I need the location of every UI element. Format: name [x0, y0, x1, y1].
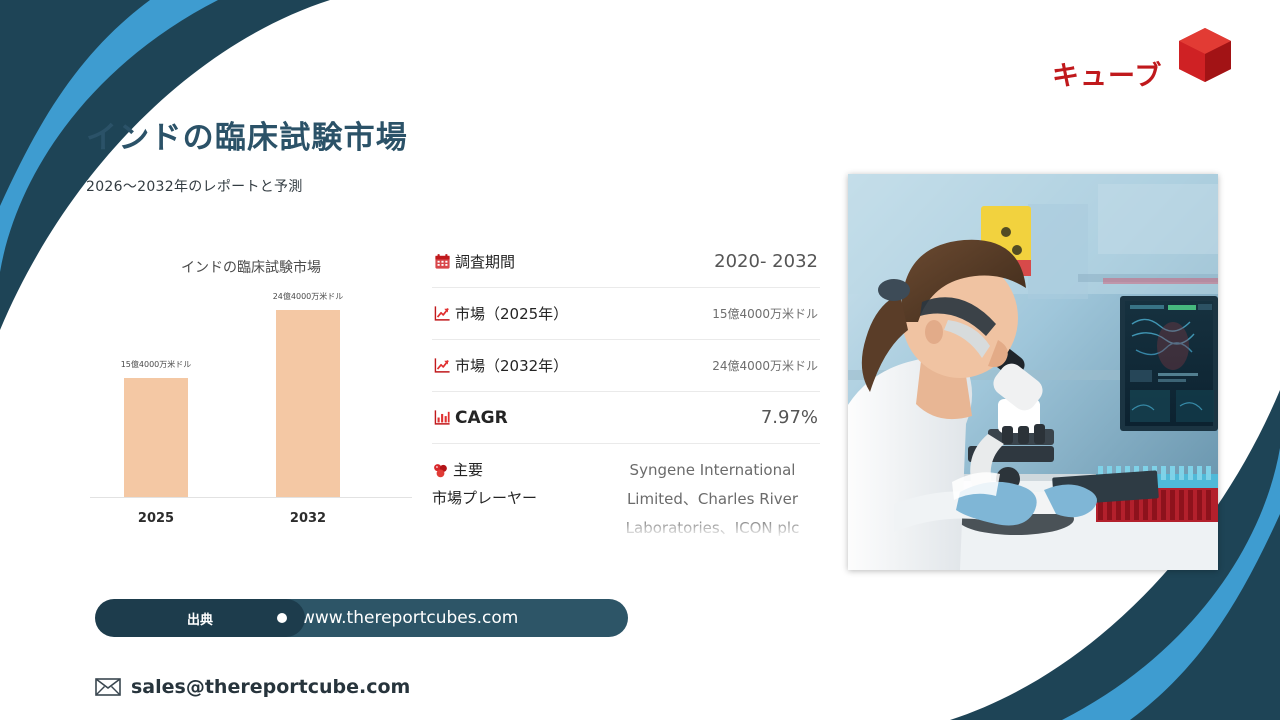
table-row-key-players: 主要 市場プレーヤー Syngene International Limited… [432, 444, 820, 543]
contact-email-text: sales@thereportcube.com [131, 676, 410, 698]
calendar-icon [434, 253, 451, 270]
brand-logo: キューブ [1052, 18, 1242, 102]
cubes-icon [432, 462, 449, 479]
bar-label-2032: 24億4000万米ドル [253, 291, 363, 302]
market-bar-chart: インドの臨床試験市場 15億4000万米ドル 24億4000万米ドル 2025 … [86, 245, 416, 540]
envelope-icon [95, 678, 121, 696]
bar-chart-icon [434, 409, 451, 426]
chart-plot-area: 15億4000万米ドル 24億4000万米ドル [86, 283, 416, 498]
source-label-text: 出典 [187, 609, 213, 628]
bar-label-2025: 15億4000万米ドル [101, 359, 211, 370]
logo-text: キューブ [1052, 54, 1162, 93]
table-row-market-2025: 市場（2025年） 15億4000万米ドル [432, 288, 820, 340]
row-label-cagr: CAGR [434, 408, 508, 428]
chart-title: インドの臨床試験市場 [86, 257, 416, 277]
row-label-market-2032: 市場（2032年） [434, 355, 568, 376]
red-cube-icon [1174, 24, 1236, 86]
key-player-line: Limited、Charles River [605, 485, 820, 514]
table-row-market-2032: 市場（2032年） 24億4000万米ドル [432, 340, 820, 392]
bar-2025 [124, 378, 188, 497]
page-title: インドの臨床試験市場 [86, 112, 408, 157]
key-player-line: Syngene International [605, 456, 820, 485]
bullet-dot-icon [277, 613, 287, 623]
row-label-text: 市場（2032年） [455, 355, 568, 376]
lab-scientist-photo [848, 174, 1218, 570]
market-info-table: 調査期間 2020- 2032 市場（2025年） 15億4000万米ドル 市場… [432, 236, 820, 543]
source-url-text: www.thereportcubes.com [301, 608, 518, 628]
row-label-market-2025: 市場（2025年） [434, 303, 568, 324]
row-value-cagr: 7.97% [761, 407, 818, 428]
row-label-text: 市場（2025年） [455, 303, 568, 324]
row-value-market-2025: 15億4000万米ドル [712, 305, 818, 322]
key-players-label-line1: 主要 [453, 456, 483, 484]
table-row-cagr: CAGR 7.97% [432, 392, 820, 444]
source-bar: www.thereportcubes.com 出典 [95, 599, 628, 637]
chart-category-2032: 2032 [278, 511, 338, 526]
row-label-text: CAGR [455, 408, 508, 428]
row-value-study-period: 2020- 2032 [714, 251, 818, 272]
key-players-label-line2: 市場プレーヤー [432, 489, 537, 507]
row-label-text: 調査期間 [455, 251, 515, 272]
subtitle-ghost-box [300, 172, 364, 196]
chart-baseline [90, 497, 412, 498]
overflow-fade [432, 517, 820, 543]
bar-2032 [276, 310, 340, 497]
source-label-pill: 出典 [95, 599, 305, 637]
chart-category-2025: 2025 [126, 511, 186, 526]
source-url-pill[interactable]: www.thereportcubes.com [265, 599, 628, 637]
table-row-study-period: 調査期間 2020- 2032 [432, 236, 820, 288]
row-label-study-period: 調査期間 [434, 251, 515, 272]
trend-up-icon [434, 305, 451, 322]
contact-email-row[interactable]: sales@thereportcube.com [95, 676, 410, 698]
row-value-market-2032: 24億4000万米ドル [712, 357, 818, 374]
page-subtitle: 2026〜2032年のレポートと予測 [86, 176, 303, 196]
trend-up-icon [434, 357, 451, 374]
